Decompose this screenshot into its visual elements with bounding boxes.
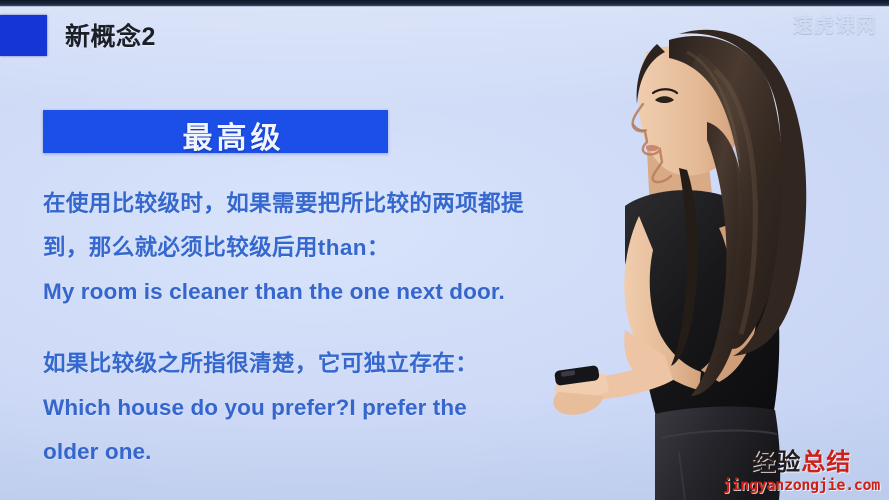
slide-header: 新概念2 xyxy=(0,13,156,57)
section-title-banner: 最高级 xyxy=(43,110,388,153)
slide-body: 在使用比较级时，如果需要把所比较的两项都提 到，那么就必须比较级后用than： … xyxy=(43,182,618,474)
watermark-brand-dark: 经验 xyxy=(751,449,801,476)
body-line: 到，那么就必须比较级后用than： xyxy=(43,226,618,270)
video-frame: 新概念2 最高级 在使用比较级时，如果需要把所比较的两项都提 到，那么就必须比较… xyxy=(0,0,889,500)
page-title: 新概念2 xyxy=(65,17,156,53)
screen-bezel-sheen xyxy=(0,6,889,9)
body-line: Which house do you prefer?I prefer the xyxy=(43,386,618,430)
section-title-text: 最高级 xyxy=(183,113,285,157)
watermark-bottom-right: 经验总结 jingyanzongjie.com xyxy=(723,450,880,494)
body-line: 如果比较级之所指很清楚，它可独立存在： xyxy=(43,342,618,386)
paragraph-spacer xyxy=(43,314,618,342)
watermark-top-right: 速虎课网 xyxy=(793,9,877,38)
body-line: 在使用比较级时，如果需要把所比较的两项都提 xyxy=(43,182,618,226)
watermark-brand-red: 总结 xyxy=(801,449,851,476)
body-line: My room is cleaner than the one next doo… xyxy=(43,270,618,314)
blue-square-bullet-icon xyxy=(0,15,47,56)
watermark-url: jingyanzongjie.com xyxy=(723,476,880,494)
body-line: older one. xyxy=(43,430,618,474)
watermark-brand: 经验总结 xyxy=(723,450,880,476)
